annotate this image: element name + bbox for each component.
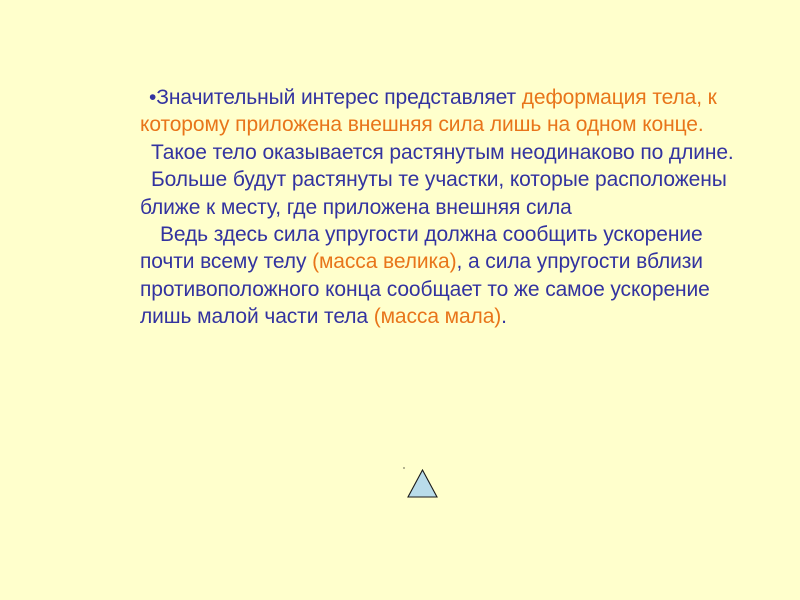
paragraph-4-run-4-mass-small: (масса мала): [374, 305, 501, 328]
paragraph-2-run-1: Такое тело оказывается растянутым неодин…: [151, 141, 734, 164]
paragraph-1: •Значительный интерес представляет дефор…: [140, 84, 740, 139]
paragraph-2: Такое тело оказывается растянутым неодин…: [140, 139, 740, 166]
paragraph-3: Больше будут растянуты те участки, котор…: [140, 166, 740, 221]
paragraph-4-run-2-mass-large: (масса велика): [312, 250, 456, 273]
slide-canvas: •Значительный интерес представляет дефор…: [0, 0, 800, 600]
triangle-shape: [407, 469, 438, 498]
paragraph-1-run-1: Значительный интерес представляет: [156, 86, 522, 109]
slide-text-body: •Значительный интерес представляет дефор…: [140, 84, 740, 331]
isosceles-triangle-icon: [408, 470, 437, 497]
speck-mark-icon: [403, 467, 405, 469]
paragraph-4-run-5: .: [501, 305, 507, 328]
paragraph-3-run-1: Больше будут растянуты те участки, котор…: [140, 168, 727, 218]
paragraph-4: Ведь здесь сила упругости должна сообщит…: [140, 221, 740, 331]
